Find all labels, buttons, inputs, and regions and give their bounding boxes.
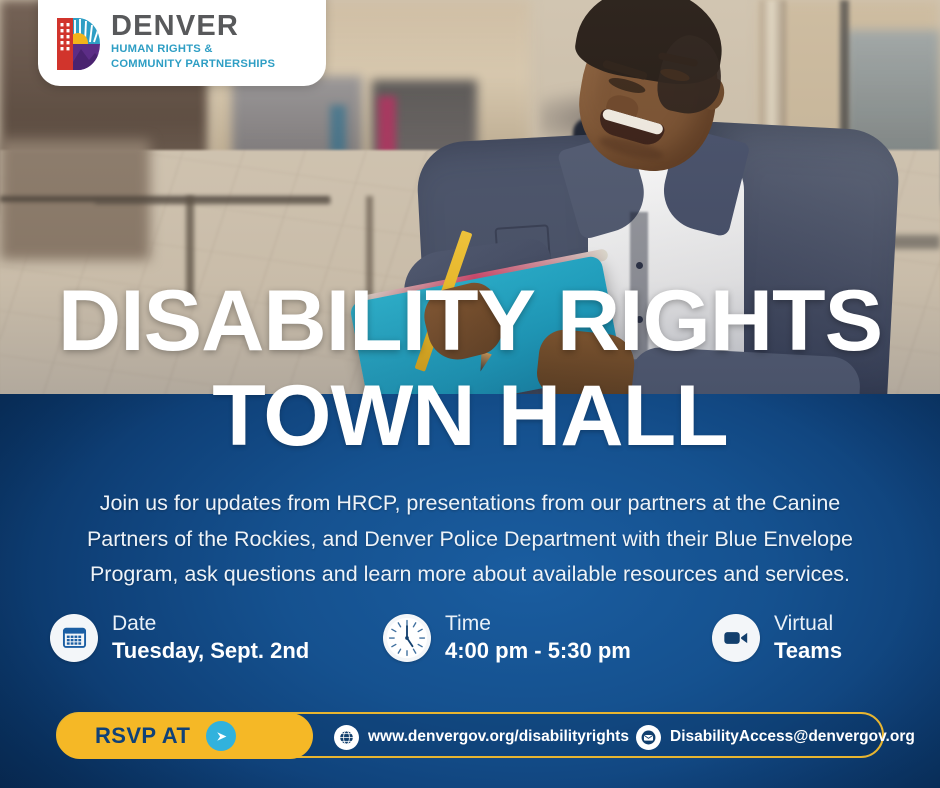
website-contact[interactable]: www.denvergov.org/disabilityrights [334,714,629,760]
globe-icon [334,725,359,750]
shirt-button-one [636,262,643,269]
time-value: 4:00 pm - 5:30 pm [445,638,631,664]
calendar-icon [50,614,98,662]
envelope-icon [636,725,661,750]
event-details-row: Date Tuesday, Sept. 2nd [50,612,910,684]
shirt-button-two [636,316,643,323]
video-camera-icon [712,614,760,662]
time-text-group: Time 4:00 pm - 5:30 pm [445,612,631,664]
logo-wordmark: DENVER HUMAN RIGHTS & COMMUNITY PARTNERS… [111,12,275,72]
denver-logo-card: DENVER HUMAN RIGHTS & COMMUNITY PARTNERS… [38,0,326,86]
arrow-right-icon [206,721,236,751]
person-figure [330,0,940,400]
detail-item-date: Date Tuesday, Sept. 2nd [50,612,309,664]
detail-item-virtual: Virtual Teams [712,612,842,664]
date-label: Date [112,612,309,636]
clock-icon [383,614,431,662]
logo-subtitle-line-one: HUMAN RIGHTS & [111,43,275,56]
plaza-railing-lower [95,200,330,204]
date-text-group: Date Tuesday, Sept. 2nd [112,612,309,664]
logo-denver-text: DENVER [111,12,275,41]
blue-content-panel: Join us for updates from HRCP, presentat… [0,394,940,788]
virtual-text-group: Virtual Teams [774,612,842,664]
event-description: Join us for updates from HRCP, presentat… [58,486,882,593]
denver-d-logo-icon [56,16,102,72]
flyer-poster: Join us for updates from HRCP, presentat… [0,0,940,788]
detail-item-time: Time 4:00 pm - 5:30 pm [383,612,631,664]
time-label: Time [445,612,631,636]
rsvp-label: RSVP AT [95,723,190,749]
date-value: Tuesday, Sept. 2nd [112,638,309,664]
railing-post-one [186,196,194,301]
email-contact[interactable]: DisabilityAccess@denvergov.org [636,714,915,760]
rsvp-bar: RSVP AT [56,712,884,758]
virtual-label: Virtual [774,612,842,636]
website-url: www.denvergov.org/disabilityrights [368,728,629,746]
virtual-value: Teams [774,638,842,664]
logo-subtitle-line-two: COMMUNITY PARTNERSHIPS [111,58,275,71]
rsvp-button[interactable]: RSVP AT [57,713,313,759]
email-address: DisabilityAccess@denvergov.org [670,728,915,746]
